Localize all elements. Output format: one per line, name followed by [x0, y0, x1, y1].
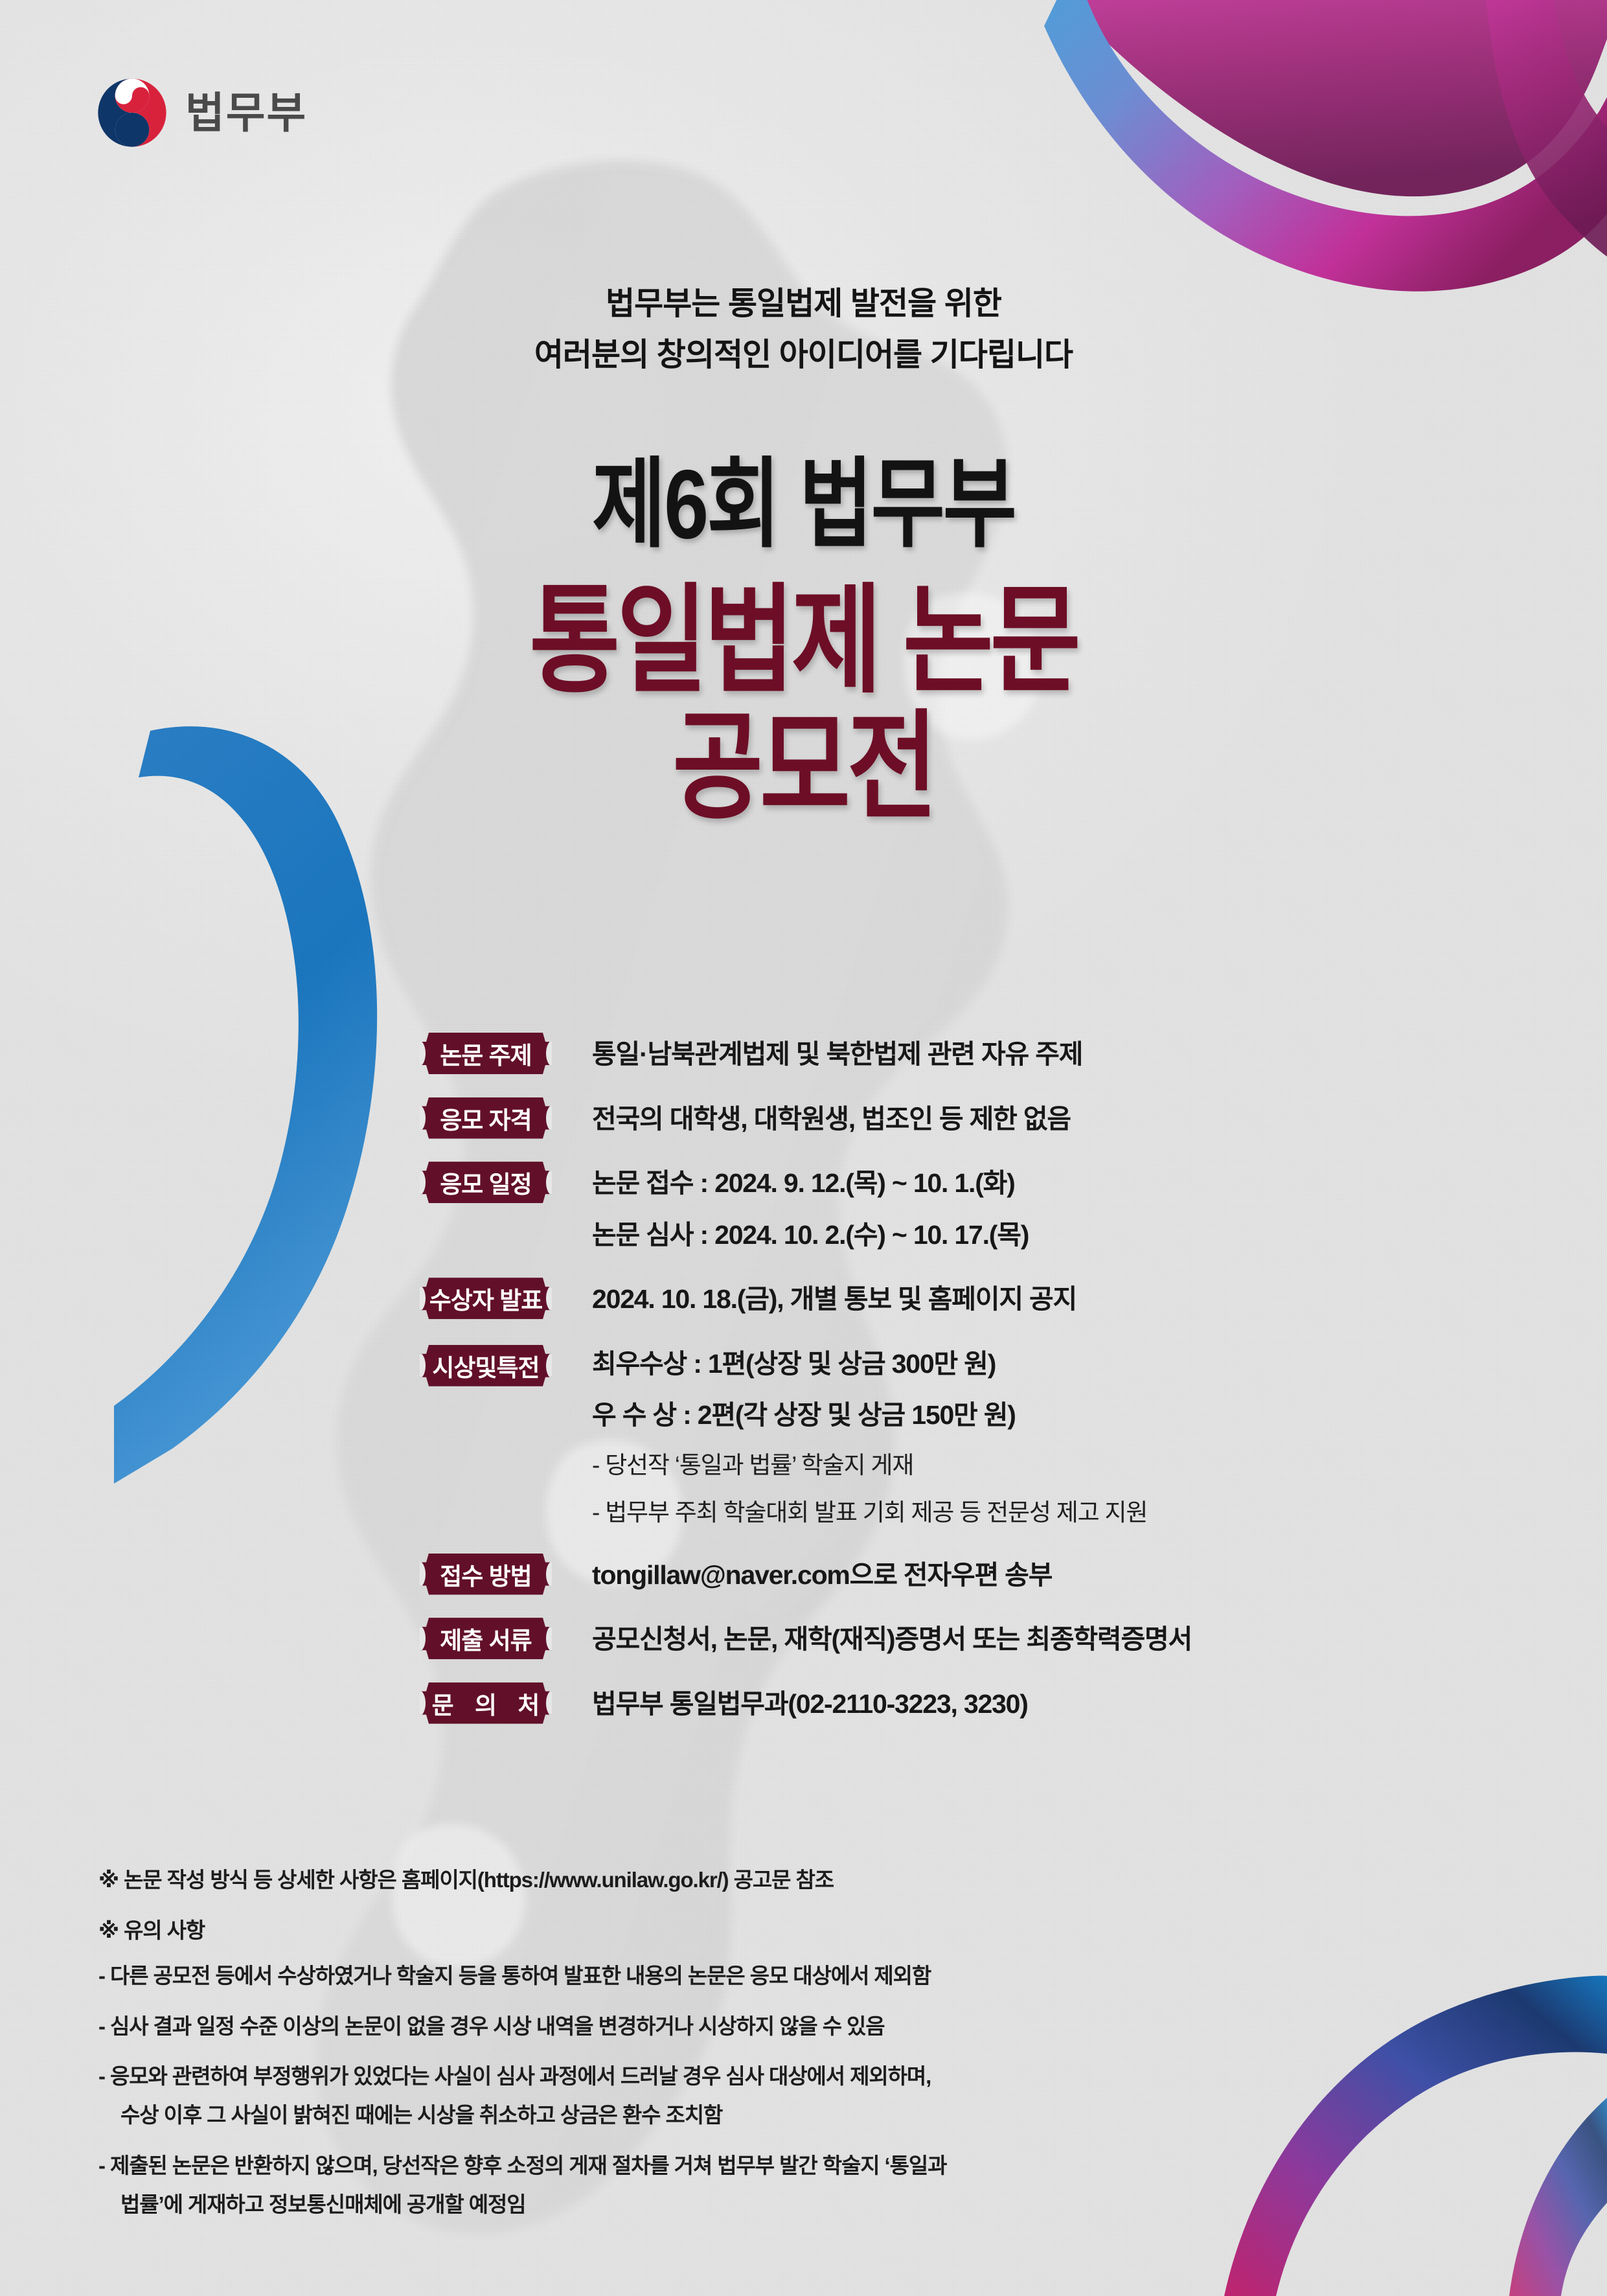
info-value: 2024. 10. 18.(금), 개별 통보 및 홈페이지 공지 — [552, 1278, 1521, 1320]
info-label-text: 접수 방법 — [440, 1557, 531, 1592]
title-line-3: 공모전 — [0, 707, 1607, 828]
info-row: 응모 일정논문 접수 : 2024. 9. 12.(목) ~ 10. 1.(화)… — [420, 1162, 1521, 1256]
tagline-line-2: 여러분의 창의적인 아이디어를 기다립니다 — [0, 330, 1607, 381]
info-value-line: 전국의 대학생, 대학원생, 법조인 등 제한 없음 — [592, 1099, 1521, 1140]
tagline: 법무부는 통일법제 발전을 위한 여러분의 창의적인 아이디어를 기다립니다 — [0, 279, 1607, 382]
note-item-main: - 제출된 논문은 반환하지 않으며, 당선작은 향후 소정의 게재 절차를 거… — [98, 2153, 946, 2177]
info-label-text: 시상및특전 — [432, 1348, 539, 1383]
info-table: 논문 주제통일·남북관계법제 및 북한법제 관련 자유 주제응모 자격전국의 대… — [420, 1033, 1521, 1747]
info-value: tongillaw@naver.com으로 전자우편 송부 — [552, 1554, 1521, 1596]
info-value-line: tongillaw@naver.com으로 전자우편 송부 — [592, 1555, 1521, 1596]
info-value-sub: - 당선작 ‘통일과 법률’ 학술지 게재 — [592, 1447, 1521, 1484]
note-reference: ※ 논문 작성 방식 등 상세한 사항은 홈페이지(https://www.un… — [98, 1865, 1510, 1896]
info-value: 전국의 대학생, 대학원생, 법조인 등 제한 없음 — [552, 1097, 1521, 1140]
info-row: 논문 주제통일·남북관계법제 및 북한법제 관련 자유 주제 — [420, 1033, 1521, 1075]
ministry-logo: 법무부 — [96, 76, 307, 149]
info-value-line: 공모신청서, 논문, 재학(재직)증명서 또는 최종학력증명서 — [592, 1619, 1521, 1660]
poster-canvas: 법무부 법무부는 통일법제 발전을 위한 여러분의 창의적인 아이디어를 기다립… — [0, 0, 1607, 2296]
info-label-badge: 응모 일정 — [420, 1162, 552, 1203]
info-value-line: 논문 접수 : 2024. 9. 12.(목) ~ 10. 1.(화) — [592, 1163, 1521, 1204]
note-item-main: - 응모와 관련하여 부정행위가 있었다는 사실이 심사 과정에서 드러날 경우… — [98, 2064, 931, 2088]
info-label-text: 응모 일정 — [440, 1165, 531, 1200]
info-label-badge: 접수 방법 — [420, 1554, 552, 1595]
info-label-text: 논문 주제 — [440, 1036, 531, 1071]
info-value: 법무부 통일법무과(02-2110-3223, 3230) — [552, 1682, 1521, 1725]
info-value-line: 논문 심사 : 2024. 10. 2.(수) ~ 10. 17.(목) — [592, 1215, 1521, 1256]
info-label-badge: 논문 주제 — [420, 1033, 552, 1074]
info-value-line: 통일·남북관계법제 및 북한법제 관련 자유 주제 — [592, 1034, 1521, 1075]
korea-government-taegeuk-icon — [96, 76, 168, 149]
tagline-line-1: 법무부는 통일법제 발전을 위한 — [0, 279, 1607, 330]
info-value-line: 법무부 통일법무과(02-2110-3223, 3230) — [592, 1684, 1521, 1725]
info-row: 제출 서류공모신청서, 논문, 재학(재직)증명서 또는 최종학력증명서 — [420, 1618, 1521, 1660]
info-value: 공모신청서, 논문, 재학(재직)증명서 또는 최종학력증명서 — [552, 1618, 1521, 1660]
info-label-badge: 문 의 처 — [420, 1682, 552, 1724]
info-label-text: 응모 자격 — [440, 1101, 531, 1136]
info-label-badge: 수상자 발표 — [420, 1278, 552, 1319]
note-item-continuation: 법률’에 게재하고 정보통신매체에 공개할 예정임 — [98, 2189, 1510, 2220]
page-title: 제6회 법무부 통일법제 논문 공모전 — [0, 453, 1607, 809]
info-value-line: 최우수상 : 1편(상장 및 상금 300만 원) — [592, 1344, 1521, 1385]
info-label-text: 제출 서류 — [440, 1621, 531, 1656]
title-line-2: 통일법제 논문 — [0, 581, 1607, 702]
info-value: 통일·남북관계법제 및 북한법제 관련 자유 주제 — [552, 1033, 1521, 1075]
info-row: 수상자 발표2024. 10. 18.(금), 개별 통보 및 홈페이지 공지 — [420, 1278, 1521, 1320]
info-row: 접수 방법tongillaw@naver.com으로 전자우편 송부 — [420, 1554, 1521, 1596]
info-value: 최우수상 : 1편(상장 및 상금 300만 원)우 수 상 : 2편(각 상장… — [552, 1342, 1521, 1532]
info-label-text: 수상자 발표 — [429, 1281, 542, 1316]
note-item-main: - 다른 공모전 등에서 수상하였거나 학술지 등을 통하여 발표한 내용의 논… — [98, 1964, 931, 1988]
note-caution-heading: ※ 유의 사항 — [98, 1915, 1510, 1946]
info-row: 응모 자격전국의 대학생, 대학원생, 법조인 등 제한 없음 — [420, 1097, 1521, 1140]
note-item: - 제출된 논문은 반환하지 않으며, 당선작은 향후 소정의 게재 절차를 거… — [98, 2150, 1510, 2220]
title-line-1: 제6회 법무부 — [0, 453, 1607, 557]
note-item: - 심사 결과 일정 수준 이상의 논문이 없을 경우 시상 내역을 변경하거나… — [98, 2011, 1510, 2042]
info-value-sub: - 법무부 주최 학술대회 발표 기회 제공 등 전문성 제고 지원 — [592, 1494, 1521, 1531]
info-label-text: 문 의 처 — [425, 1686, 547, 1721]
info-row: 시상및특전최우수상 : 1편(상장 및 상금 300만 원)우 수 상 : 2편… — [420, 1342, 1521, 1532]
info-row: 문 의 처법무부 통일법무과(02-2110-3223, 3230) — [420, 1682, 1521, 1725]
notes-section: ※ 논문 작성 방식 등 상세한 사항은 홈페이지(https://www.un… — [98, 1865, 1510, 2240]
info-value-line: 2024. 10. 18.(금), 개별 통보 및 홈페이지 공지 — [592, 1279, 1521, 1320]
info-label-badge: 응모 자격 — [420, 1097, 552, 1139]
info-label-badge: 제출 서류 — [420, 1618, 552, 1659]
info-label-badge: 시상및특전 — [420, 1345, 552, 1386]
note-item: - 다른 공모전 등에서 수상하였거나 학술지 등을 통하여 발표한 내용의 논… — [98, 1960, 1510, 1992]
note-item: - 응모와 관련하여 부정행위가 있었다는 사실이 심사 과정에서 드러날 경우… — [98, 2061, 1510, 2131]
info-value: 논문 접수 : 2024. 9. 12.(목) ~ 10. 1.(화)논문 심사… — [552, 1162, 1521, 1256]
info-value-line: 우 수 상 : 2편(각 상장 및 상금 150만 원) — [592, 1395, 1521, 1436]
note-item-main: - 심사 결과 일정 수준 이상의 논문이 없을 경우 시상 내역을 변경하거나… — [98, 2014, 885, 2038]
ministry-name: 법무부 — [185, 91, 307, 134]
note-item-continuation: 수상 이후 그 사실이 밝혀진 때에는 시상을 취소하고 상금은 환수 조치함 — [98, 2100, 1510, 2131]
